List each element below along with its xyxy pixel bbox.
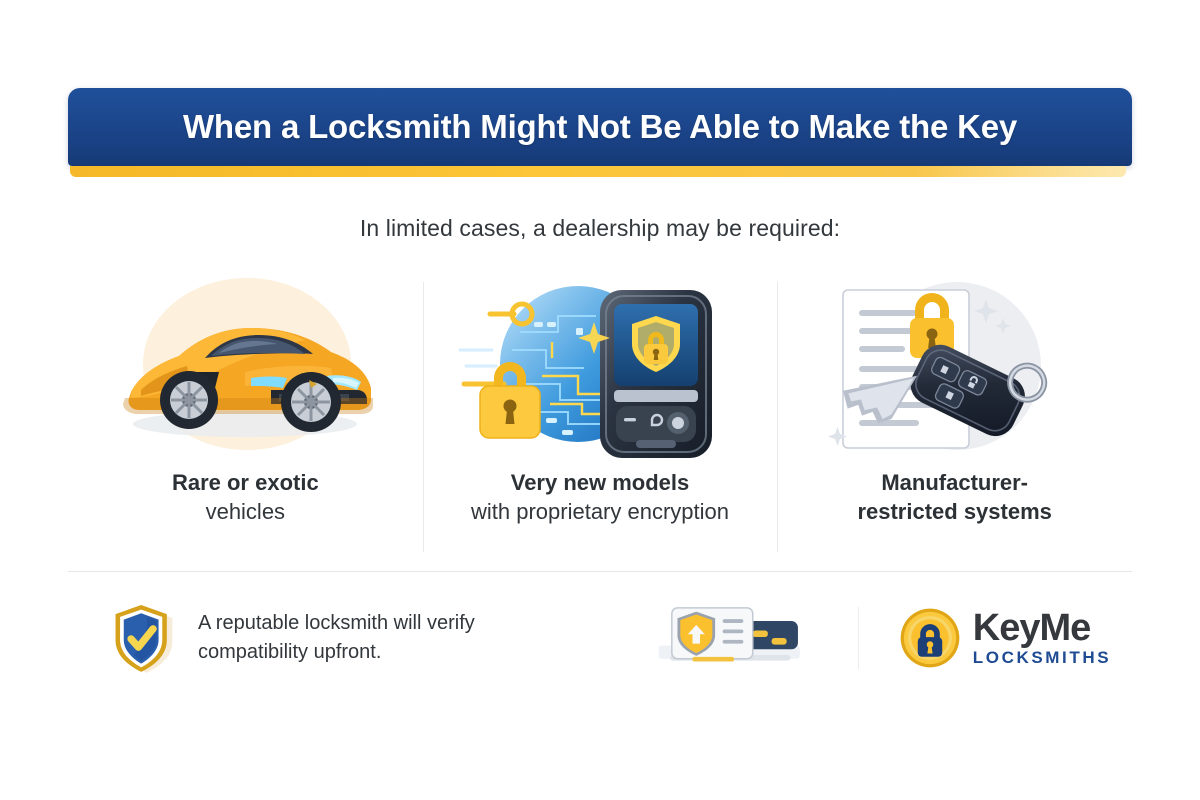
footer-note-line-2: compatibility upfront. [198,641,381,663]
header-accent-bar [70,166,1126,177]
column-new-models-encryption: Very new models with proprietary encrypt… [423,272,778,557]
footer-note-line-1: A reputable locksmith will verify [198,612,475,634]
logo-subtitle: LOCKSMITHS [973,649,1111,666]
caption-line-2: vehicles [100,497,390,526]
column-rare-exotic-vehicles: Rare or exotic vehicles [68,272,423,557]
document-key-icon [805,272,1105,462]
subtitle: In limited cases, a dealership may be re… [0,215,1200,242]
padlock-circle-icon [899,607,961,669]
keyme-logo: KeyMe LOCKSMITHS [878,607,1132,669]
column-manufacturer-restricted: Manufacturer- restricted systems [777,272,1132,557]
shield-check-icon [110,601,176,675]
footer: A reputable locksmith will verify compat… [68,585,1132,690]
footer-logo-divider [838,607,878,669]
header: When a Locksmith Might Not Be Able to Ma… [68,88,1132,177]
caption-line-1: Very new models [455,468,745,497]
logo-name: KeyMe [973,609,1111,647]
caption-line-2: restricted systems [810,497,1100,526]
footer-divider [68,571,1132,572]
sports-car-icon [95,272,395,462]
reasons-columns: Rare or exotic vehicles [68,272,1132,557]
caption: Very new models with proprietary encrypt… [455,468,745,527]
key-fob-encryption-icon [450,272,750,462]
footer-assurance: A reputable locksmith will verify compat… [68,601,628,675]
caption: Rare or exotic vehicles [100,468,390,527]
caption-line-1: Rare or exotic [100,468,390,497]
header-bar: When a Locksmith Might Not Be Able to Ma… [68,88,1132,166]
caption-line-2: with proprietary encryption [455,497,745,526]
infographic-canvas: When a Locksmith Might Not Be Able to Ma… [0,0,1200,800]
footer-note: A reputable locksmith will verify compat… [198,609,475,667]
page-title: When a Locksmith Might Not Be Able to Ma… [183,108,1017,146]
secure-keycard-icon [628,600,838,676]
caption-line-1: Manufacturer- [810,468,1100,497]
caption: Manufacturer- restricted systems [810,468,1100,527]
